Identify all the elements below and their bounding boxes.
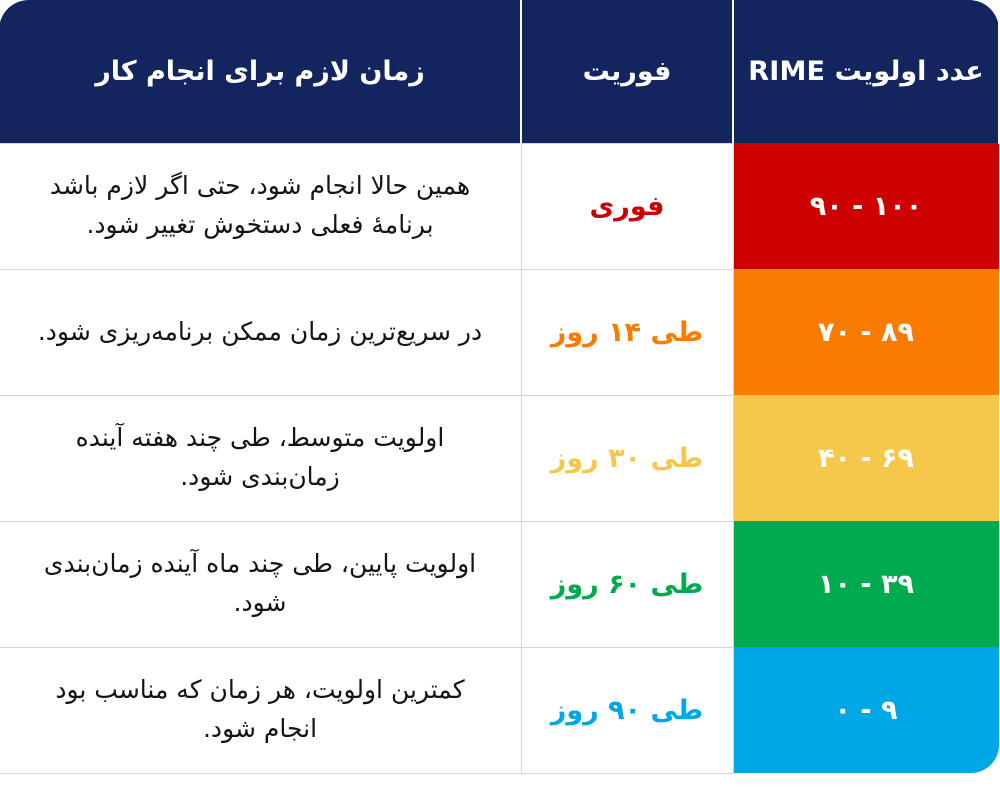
table-row: ۹ - ۰طی ۹۰ روزکمترین اولویت، هر زمان که … (0, 647, 999, 773)
time-required-cell: در سریع‌ترین زمان ممکن برنامه‌ریزی شود. (0, 269, 521, 395)
urgency-cell: طی ۶۰ روز (521, 521, 733, 647)
column-header-urgency: فوریت (521, 0, 733, 143)
urgency-cell: طی ۱۴ روز (521, 269, 733, 395)
time-required-cell: کمترین اولویت، هر زمان که مناسب بود انجا… (0, 647, 521, 773)
column-header-time-required: زمان لازم برای انجام کار (0, 0, 521, 143)
urgency-cell: فوری (521, 143, 733, 269)
time-required-cell: اولویت متوسط، طی چند هفته آینده زمان‌بند… (0, 395, 521, 521)
urgency-cell: طی ۳۰ روز (521, 395, 733, 521)
table-row: ۶۹ - ۴۰طی ۳۰ روزاولویت متوسط، طی چند هفت… (0, 395, 999, 521)
table-header: عدد اولویت RIME فوریت زمان لازم برای انج… (0, 0, 999, 143)
priority-score-cell: ۶۹ - ۴۰ (733, 395, 999, 521)
table-row: ۳۹ - ۱۰طی ۶۰ روزاولویت پایین، طی چند ماه… (0, 521, 999, 647)
priority-score-cell: ۹ - ۰ (733, 647, 999, 773)
table-row: ۸۹ - ۷۰طی ۱۴ روزدر سریع‌ترین زمان ممکن ب… (0, 269, 999, 395)
time-required-cell: اولویت پایین، طی چند ماه آینده زمان‌بندی… (0, 521, 521, 647)
table-row: ۱۰۰ - ۹۰فوریهمین حالا انجام شود، حتی اگر… (0, 143, 999, 269)
priority-score-cell: ۱۰۰ - ۹۰ (733, 143, 999, 269)
urgency-cell: طی ۹۰ روز (521, 647, 733, 773)
time-required-cell: همین حالا انجام شود، حتی اگر لازم باشد ب… (0, 143, 521, 269)
table-body: ۱۰۰ - ۹۰فوریهمین حالا انجام شود، حتی اگر… (0, 143, 999, 773)
header-row: عدد اولویت RIME فوریت زمان لازم برای انج… (0, 0, 999, 143)
rime-priority-table-container: عدد اولویت RIME فوریت زمان لازم برای انج… (0, 0, 1000, 788)
priority-score-cell: ۳۹ - ۱۰ (733, 521, 999, 647)
column-header-rime-score: عدد اولویت RIME (733, 0, 999, 143)
priority-score-cell: ۸۹ - ۷۰ (733, 269, 999, 395)
rime-priority-table: عدد اولویت RIME فوریت زمان لازم برای انج… (0, 0, 1000, 774)
